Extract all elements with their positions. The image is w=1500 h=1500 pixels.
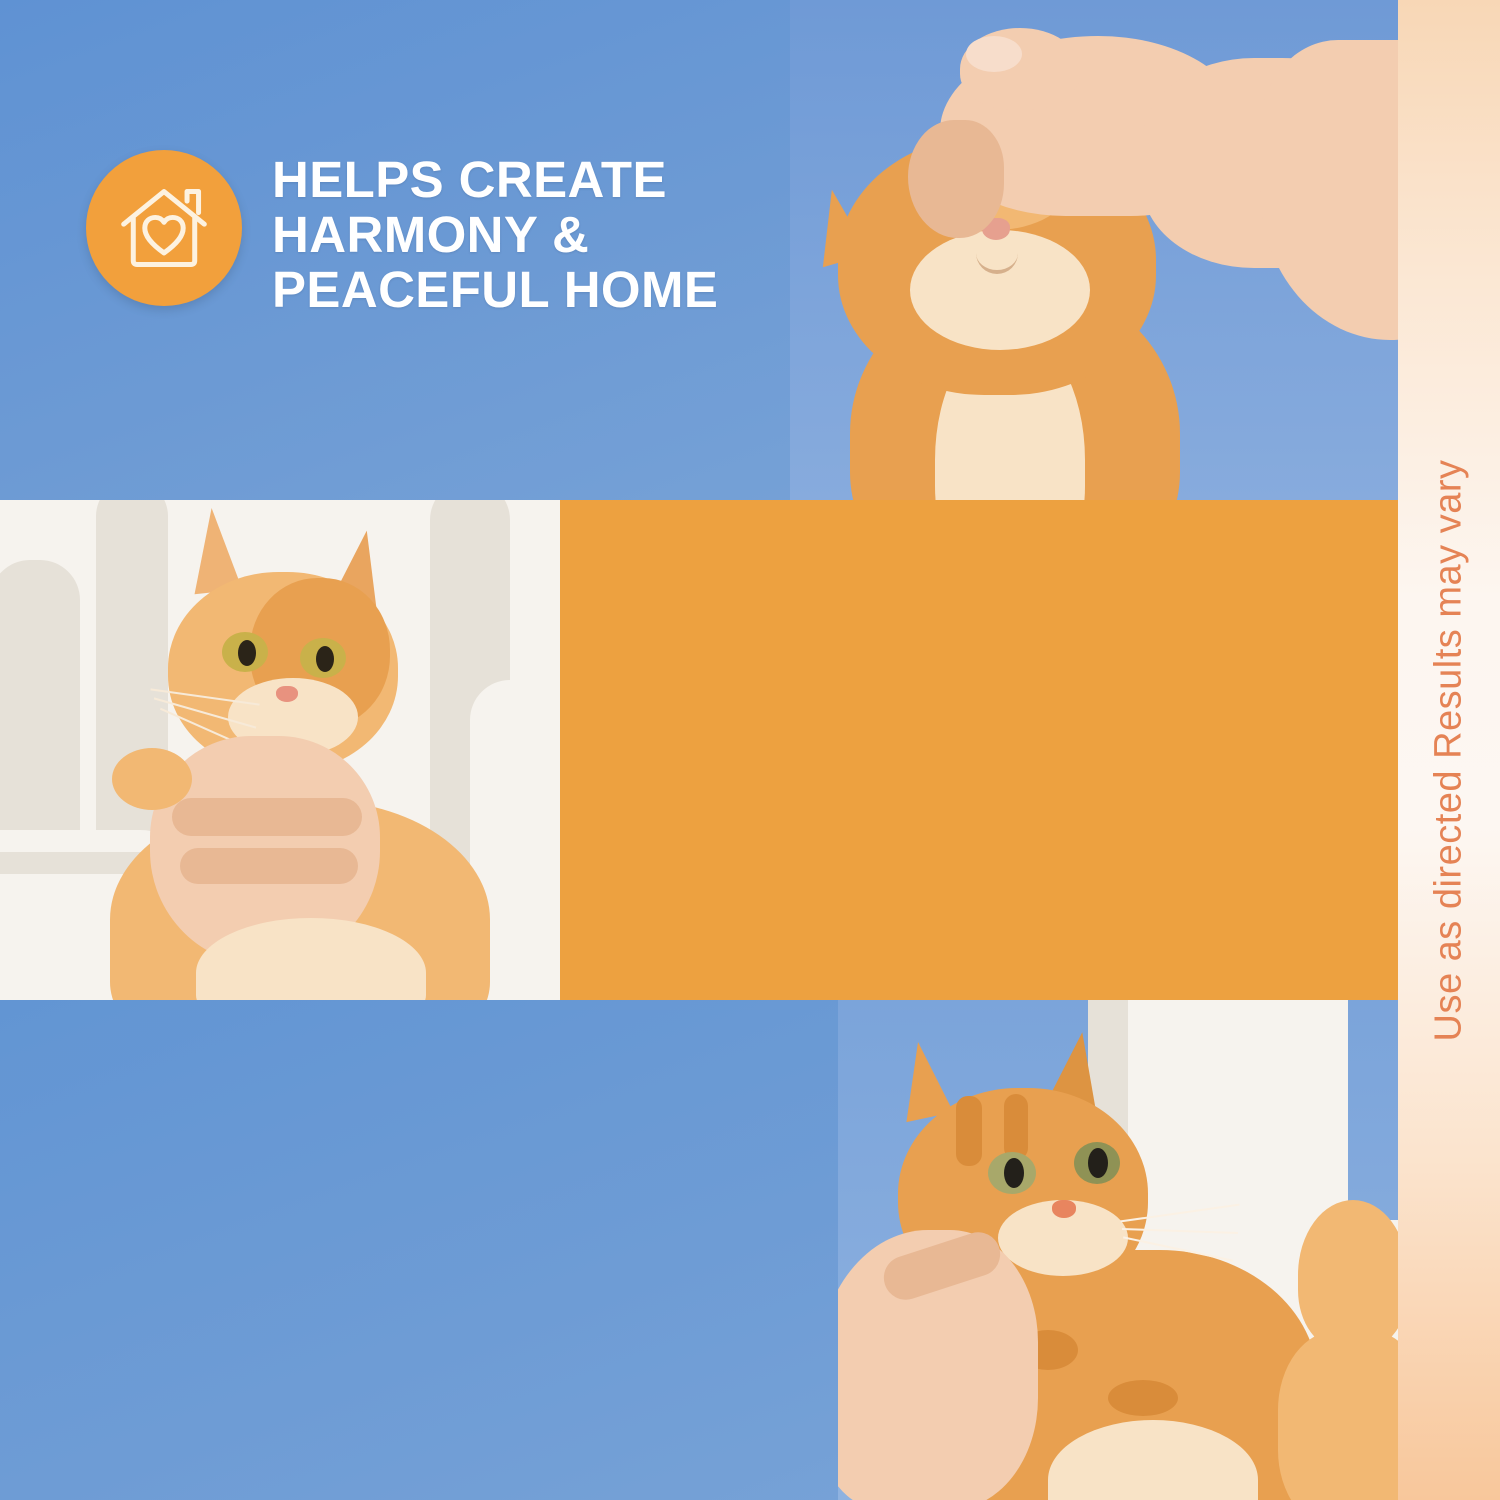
cat-held-looking-up-photo (838, 1000, 1398, 1500)
disclaimer-text: Use as directed Results may vary (1428, 459, 1471, 1041)
disclaimer-strip: Use as directed Results may vary (1398, 0, 1500, 1500)
section-benefit-harmony: HELPS CREATE HARMONY & PEACEFUL HOME (0, 0, 1398, 500)
cat-held-in-sweater-photo (0, 500, 560, 1000)
cat-being-petted-photo (790, 0, 1398, 500)
home-heart-icon (86, 150, 242, 306)
infographic-canvas: HELPS CREATE HARMONY & PEACEFUL HOME (0, 0, 1500, 1500)
headline-harmony: HELPS CREATE HARMONY & PEACEFUL HOME (272, 152, 832, 317)
section-benefit-two-weeks: 2wks VISIBLY IMPROVE THE CATS BEHAVIOR I… (0, 1000, 1398, 1500)
section-benefit-coverage: 4ft CAT CALMING & COVERS UP TO 700 SQ FT (0, 500, 1398, 1000)
